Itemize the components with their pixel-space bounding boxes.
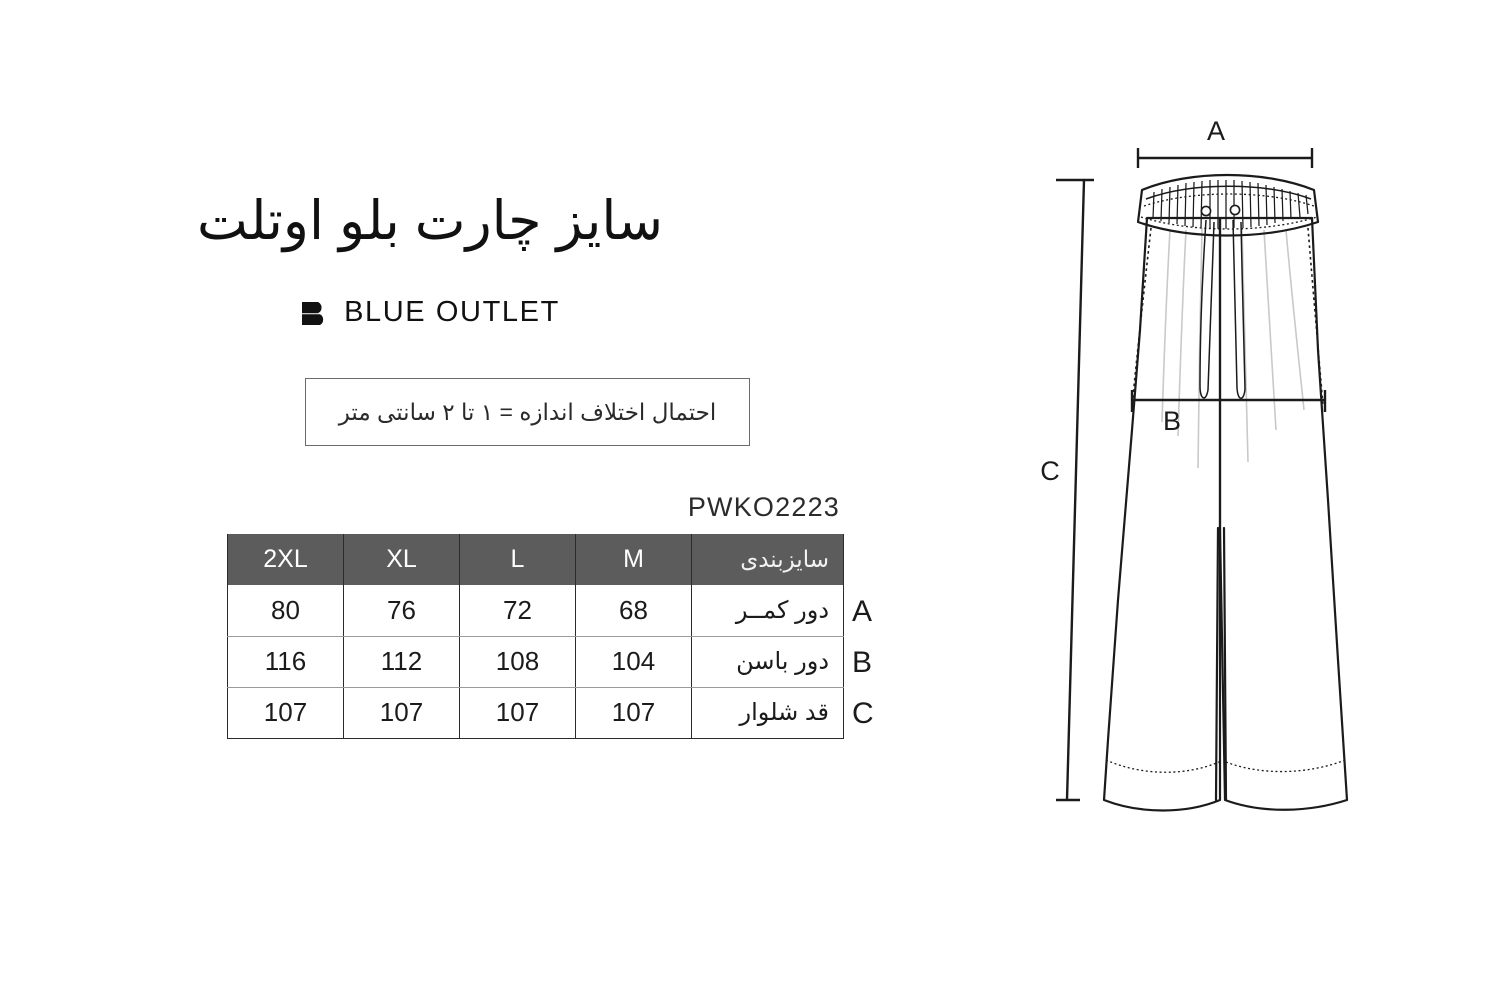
drape-lines xyxy=(1162,228,1304,468)
row-label-length: قد شلوار xyxy=(692,687,844,738)
dimension-a: A xyxy=(1138,116,1312,168)
table-header-row: 2XL XL L M سایزبندی xyxy=(228,534,844,585)
pants-outline xyxy=(1104,218,1347,811)
dimension-c: C xyxy=(1040,180,1094,800)
column-header-measurement: سایزبندی xyxy=(692,534,844,585)
column-header-xl: XL xyxy=(344,534,460,585)
brand-name: BLUE OUTLET xyxy=(344,296,560,329)
brand-lockup: BLUE OUTLET xyxy=(0,296,860,329)
table-row: 116 112 108 104 دور باسن xyxy=(228,636,844,687)
size-chart-page: سایز چارت بلو اوتلت BLUE OUTLET احتمال ا… xyxy=(0,0,1500,1000)
cell-hip-l: 108 xyxy=(460,636,576,687)
svg-text:C: C xyxy=(1040,456,1060,486)
row-label-hip: دور باسن xyxy=(692,636,844,687)
cell-hip-2xl: 116 xyxy=(228,636,344,687)
product-code: PWKO2223 xyxy=(440,492,840,523)
size-table-container: 2XL XL L M سایزبندی 80 76 72 68 دور کمــ… xyxy=(227,534,844,739)
table-row: 80 76 72 68 دور کمــر xyxy=(228,585,844,636)
column-header-m: M xyxy=(576,534,692,585)
drawstring-ties xyxy=(1200,220,1245,398)
note-text: احتمال اختلاف اندازه = ۱ تا ۲ سانتی متر xyxy=(339,399,717,426)
row-letter-legend: A B C xyxy=(852,586,874,739)
elastic-waistband xyxy=(1138,175,1318,236)
b-logo-icon xyxy=(300,298,330,328)
size-table: 2XL XL L M سایزبندی 80 76 72 68 دور کمــ… xyxy=(227,534,844,739)
cell-length-2xl: 107 xyxy=(228,687,344,738)
row-letter-b: B xyxy=(852,637,874,688)
row-letter-a: A xyxy=(852,586,874,637)
cell-hip-m: 104 xyxy=(576,636,692,687)
row-label-waist: دور کمــر xyxy=(692,585,844,636)
dimension-b: B xyxy=(1132,390,1325,436)
pants-technical-drawing: .ol { fill:none; stroke:#1b1b1b; stroke-… xyxy=(1020,100,1480,860)
svg-text:B: B xyxy=(1163,406,1181,436)
cell-length-l: 107 xyxy=(460,687,576,738)
table-row: 107 107 107 107 قد شلوار xyxy=(228,687,844,738)
cell-waist-xl: 76 xyxy=(344,585,460,636)
svg-text:A: A xyxy=(1207,116,1225,146)
cell-waist-l: 72 xyxy=(460,585,576,636)
column-header-l: L xyxy=(460,534,576,585)
page-title: سایز چارت بلو اوتلت xyxy=(0,188,860,256)
cell-waist-m: 68 xyxy=(576,585,692,636)
cell-hip-xl: 112 xyxy=(344,636,460,687)
info-pane: سایز چارت بلو اوتلت BLUE OUTLET احتمال ا… xyxy=(0,0,900,1000)
cell-waist-2xl: 80 xyxy=(228,585,344,636)
cell-length-xl: 107 xyxy=(344,687,460,738)
measurement-tolerance-note: احتمال اختلاف اندازه = ۱ تا ۲ سانتی متر xyxy=(305,378,750,446)
row-letter-c: C xyxy=(852,688,874,739)
cell-length-m: 107 xyxy=(576,687,692,738)
column-header-2xl: 2XL xyxy=(228,534,344,585)
